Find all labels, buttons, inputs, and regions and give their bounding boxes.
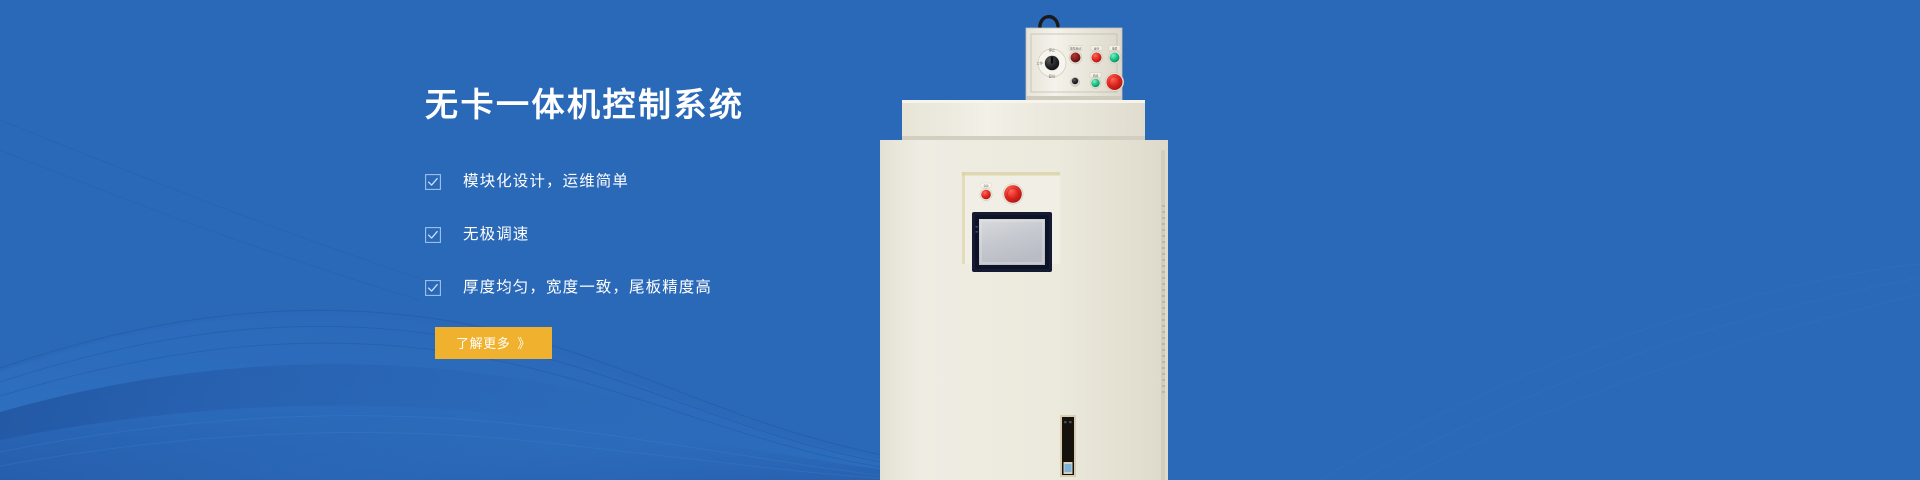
cabinet-riser-shade — [902, 136, 1145, 140]
indicator-button-red[interactable]: 运行 — [1090, 46, 1103, 64]
indicator-lamp-red-small[interactable]: 电源 — [980, 183, 992, 201]
check-square-icon — [425, 280, 441, 296]
top-control-box: 停止 工作 复位 油泵启动 运行 电源 — [1026, 17, 1124, 101]
panel-top-trim — [962, 172, 1060, 176]
check-square-icon — [425, 174, 441, 190]
list-item-label: 模块化设计，运维简单 — [463, 174, 629, 190]
operator-panel: 电源 — [962, 172, 1060, 272]
cabinet-riser — [902, 100, 1145, 140]
learn-more-button[interactable]: 了解更多 》 — [435, 327, 552, 359]
hmi-screen — [979, 219, 1045, 265]
learn-more-label: 了解更多 — [456, 333, 510, 352]
svg-text:电源: 电源 — [983, 184, 989, 188]
indicator-button-green[interactable]: 电源 — [1108, 46, 1121, 64]
svg-text:电源: 电源 — [1112, 47, 1118, 51]
start-button-green[interactable]: 启动 — [1090, 73, 1101, 89]
small-black-knob[interactable] — [1070, 77, 1079, 86]
cabinet-vent-slot — [1060, 415, 1076, 477]
control-cabinet-photo: 停止 工作 复位 油泵启动 运行 电源 — [880, 0, 1200, 480]
check-square-icon — [425, 227, 441, 243]
svg-text:工作: 工作 — [1036, 61, 1043, 66]
svg-text:复位: 复位 — [1049, 74, 1056, 79]
emergency-stop-button-red[interactable] — [1003, 184, 1023, 204]
hmi-touchscreen[interactable] — [972, 212, 1052, 272]
hero-banner: 无卡一体机控制系统 模块化设计，运维简单 无极调速 — [0, 0, 1920, 480]
panel-left-trim — [962, 172, 965, 264]
emergency-stop-button-red[interactable] — [1105, 73, 1123, 91]
svg-text:启动: 启动 — [1093, 73, 1099, 77]
svg-text:油泵启动: 油泵启动 — [1070, 47, 1081, 51]
svg-text:运行: 运行 — [1094, 47, 1100, 51]
list-item-label: 厚度均匀，宽度一致，尾板精度高 — [463, 280, 712, 296]
indicator-button-dark-red[interactable]: 油泵启动 — [1069, 46, 1082, 64]
list-item-label: 无极调速 — [463, 227, 529, 243]
svg-text:停止: 停止 — [1049, 48, 1056, 53]
cabinet-riser-highlight — [902, 100, 1145, 103]
chevron-right-icon: 》 — [517, 333, 531, 352]
